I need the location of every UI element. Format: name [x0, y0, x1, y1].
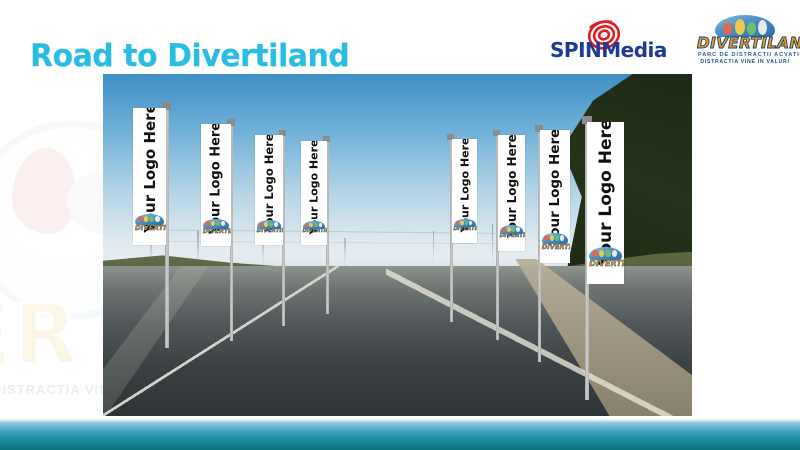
banner-logo-word: DIVERTILAND: [589, 260, 622, 268]
footer-accent-bar: [0, 418, 800, 450]
banner-label: Your Logo Here: [262, 135, 276, 233]
divertiland-logo: DIVERTILAND PARC DE DISTRACTII ACVATIC D…: [698, 14, 792, 68]
spin-media-logo: SPINMedia: [550, 19, 672, 63]
banner-logo-art-icon: [500, 225, 524, 234]
banner-label: Your Logo Here: [209, 124, 224, 234]
banner-left-3[interactable]: Your Logo Here DIVERTILAND: [255, 128, 291, 326]
banner-label: Your Logo Here: [596, 122, 616, 265]
banner-divertiland-logo: DIVERTILAND: [303, 221, 326, 241]
banner-left-2[interactable]: Your Logo Here DIVERTILAND: [201, 116, 241, 341]
banner-right-3[interactable]: Your Logo Here DIVERTILAND: [527, 122, 571, 362]
logo-bar: SPINMedia DIVERTILAND PARC DE DISTRACTII…: [550, 14, 792, 68]
footer-highlight: [0, 418, 800, 422]
banner-logo-art-icon: [203, 219, 229, 229]
banner-label: Your Logo Here: [547, 130, 563, 245]
banner-flag: Your Logo Here DIVERTILAND: [540, 130, 570, 263]
watermark-word: ER: [0, 285, 80, 383]
divertiland-subtagline: PARC DE DISTRACTII ACVATIC: [698, 52, 792, 58]
banner-right-4[interactable]: Your Logo Here DIVERTILAND: [572, 112, 626, 400]
road-photo: Your Logo Here DIVERTILAND Your Logo Her…: [103, 74, 692, 416]
banner-divertiland-logo: DIVERTILAND: [542, 233, 568, 258]
banner-label: Your Logo Here: [505, 135, 519, 238]
banner-logo-art-icon: [454, 219, 476, 227]
banner-divertiland-logo: DIVERTILAND: [500, 225, 524, 247]
banner-logo-art-icon: [257, 220, 282, 229]
banner-left-1[interactable]: Your Logo Here DIVERTILAND: [133, 98, 177, 348]
banner-logo-word: DIVERTILAND: [454, 227, 476, 232]
banner-flag: Your Logo Here DIVERTILAND: [133, 108, 166, 245]
banner-logo-word: DIVERTILAND: [303, 229, 326, 234]
page-title: Road to Divertiland: [30, 38, 349, 74]
banner-flag: Your Logo Here DIVERTILAND: [255, 135, 283, 245]
banner-divertiland-logo: DIVERTILAND: [589, 247, 622, 278]
banner-logo-word: DIVERTILAND: [203, 229, 229, 235]
watermark-character-icon: [12, 148, 76, 234]
banner-logo-word: DIVERTILAND: [542, 244, 568, 251]
banner-flag: Your Logo Here DIVERTILAND: [452, 139, 477, 243]
banner-right-2[interactable]: Your Logo Here DIVERTILAND: [486, 128, 524, 340]
banner-flag: Your Logo Here DIVERTILAND: [201, 124, 231, 246]
banner-logo-art-icon: [303, 221, 326, 229]
divertiland-wordmark: DIVERTILAND: [697, 34, 793, 54]
slide-canvas: ER DISTRACTIA VINE IN VALURI Road to Div…: [0, 0, 800, 450]
banner-flag: Your Logo Here DIVERTILAND: [301, 141, 327, 245]
banner-logo-word: DIVERTILAND: [257, 229, 282, 235]
banner-logo-art-icon: [542, 233, 568, 244]
spin-media-wordmark: SPINMedia: [550, 38, 667, 62]
banner-divertiland-logo: DIVERTILAND: [454, 219, 476, 239]
banner-logo-word: DIVERTILAND: [500, 234, 524, 240]
banner-divertiland-logo: DIVERTILAND: [203, 219, 229, 242]
banner-logo-word: DIVERTILAND: [135, 225, 164, 232]
banner-logo-art-icon: [135, 214, 164, 225]
banner-divertiland-logo: DIVERTILAND: [257, 220, 282, 241]
banner-right-1[interactable]: Your Logo Here DIVERTILAND: [440, 132, 474, 322]
divertiland-tagline: DISTRACTIA VINE IN VALURI: [698, 59, 792, 65]
banner-flag: Your Logo Here DIVERTILAND: [587, 122, 624, 284]
banner-left-4[interactable]: Your Logo Here DIVERTILAND: [301, 134, 335, 314]
banner-divertiland-logo: DIVERTILAND: [135, 214, 164, 240]
banner-flag: Your Logo Here DIVERTILAND: [498, 135, 525, 251]
banner-logo-art-icon: [589, 247, 622, 260]
